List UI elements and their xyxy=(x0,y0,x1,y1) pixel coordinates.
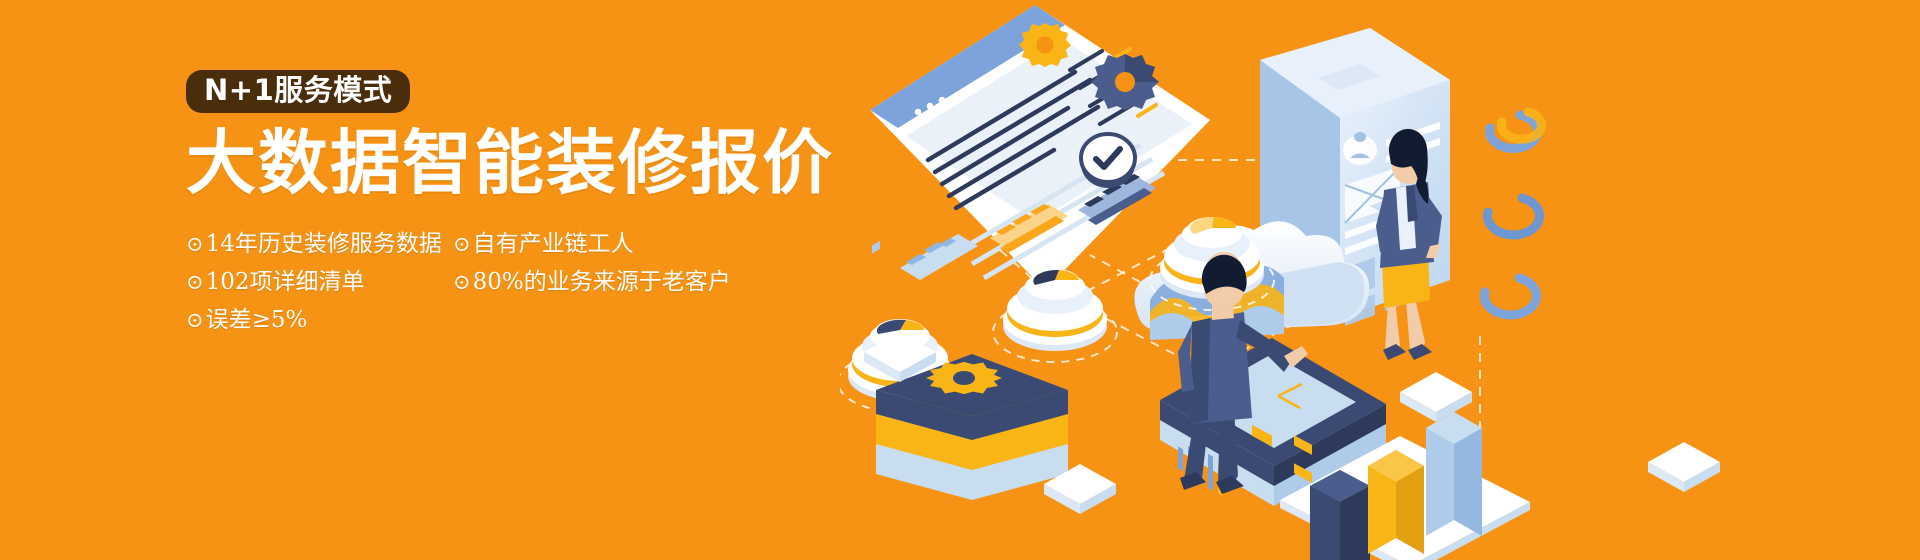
isometric-illustration xyxy=(840,0,1920,560)
bullet-dot-icon: ⊙ xyxy=(186,270,204,294)
feature-text: 102项详细清单 xyxy=(206,269,365,295)
bullet-dot-icon: ⊙ xyxy=(453,270,471,294)
bullet-dot-icon: ⊙ xyxy=(186,232,204,256)
bullet-dot-icon: ⊙ xyxy=(453,232,471,256)
feature-item: ⊙误差≥5% xyxy=(186,302,439,340)
checkmark-badge-icon xyxy=(1081,134,1135,188)
feature-item: ⊙14年历史装修服务数据 xyxy=(186,226,439,264)
service-mode-badge: N+1服务模式 xyxy=(186,70,410,113)
banner-headline: 大数据智能装修报价 xyxy=(186,127,886,200)
feature-text: 80%的业务来源于老客户 xyxy=(473,269,731,295)
feature-text: 自有产业链工人 xyxy=(473,231,634,257)
feature-item: ⊙80%的业务来源于老客户 xyxy=(453,264,753,302)
promo-banner: N+1服务模式 大数据智能装修报价 ⊙14年历史装修服务数据 ⊙102项详细清单… xyxy=(0,0,1920,560)
banner-copy: N+1服务模式 大数据智能装修报价 ⊙14年历史装修服务数据 ⊙102项详细清单… xyxy=(186,70,886,340)
feature-list: ⊙14年历史装修服务数据 ⊙102项详细清单 ⊙误差≥5% ⊙自有产业链工人 ⊙… xyxy=(186,226,886,340)
pixel-bar-chart-light xyxy=(872,234,978,280)
feature-item: ⊙自有产业链工人 xyxy=(453,226,753,264)
feature-text: 误差≥5% xyxy=(206,307,308,333)
feature-text: 14年历史装修服务数据 xyxy=(206,231,442,257)
feature-item: ⊙102项详细清单 xyxy=(186,264,439,302)
feature-column-right: ⊙自有产业链工人 ⊙80%的业务来源于老客户 xyxy=(453,226,753,340)
bullet-dot-icon: ⊙ xyxy=(186,308,204,332)
feature-column-left: ⊙14年历史装修服务数据 ⊙102项详细清单 ⊙误差≥5% xyxy=(186,226,439,340)
blue-rings-icon xyxy=(1484,112,1541,315)
